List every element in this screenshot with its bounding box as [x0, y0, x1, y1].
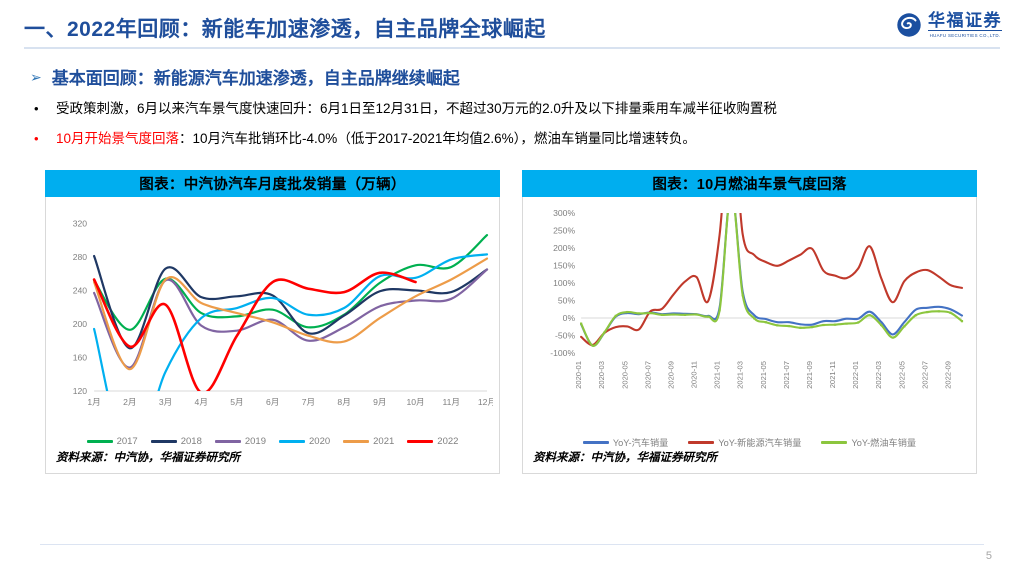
svg-text:2020-11: 2020-11 — [690, 361, 699, 388]
legend-label: YoY-新能源汽车销量 — [718, 435, 801, 449]
legend-item-2017: 2017 — [87, 436, 138, 447]
chart-legend-left: 201720182019202020212022 — [46, 436, 499, 447]
svg-text:320: 320 — [73, 219, 88, 229]
legend-item-2022: 2022 — [407, 436, 458, 447]
bullet-list: • 受政策刺激，6月以来汽车景气度快速回升：6月1日至12月31日，不超过30万… — [34, 100, 994, 160]
page-number: 5 — [986, 550, 992, 562]
svg-text:2021-03: 2021-03 — [736, 361, 745, 389]
svg-text:12月: 12月 — [478, 397, 493, 407]
svg-text:2021-01: 2021-01 — [713, 361, 722, 389]
svg-text:2月: 2月 — [123, 397, 136, 407]
legend-swatch-icon — [279, 440, 305, 443]
header-divider — [24, 47, 1000, 49]
svg-text:2021-05: 2021-05 — [759, 361, 768, 389]
svg-text:300%: 300% — [553, 208, 575, 218]
bullet-highlight: 10月开始景气度回落 — [56, 131, 179, 146]
legend-label: 2021 — [373, 436, 394, 447]
svg-text:9月: 9月 — [373, 397, 386, 407]
chart-body-left: 1201602002402803201月2月3月4月5月6月7月8月9月10月1… — [45, 197, 500, 474]
legend-swatch-icon — [583, 441, 609, 444]
legend-item-YoY-燃油车销量: YoY-燃油车销量 — [821, 435, 916, 449]
slide: 一、2022年回顾：新能车加速渗透，自主品牌全球崛起 华福证券 HUAFU SE… — [0, 0, 1024, 576]
svg-text:2020-07: 2020-07 — [643, 361, 652, 389]
svg-text:4月: 4月 — [195, 397, 208, 407]
svg-text:1月: 1月 — [87, 397, 100, 407]
svg-text:2020-09: 2020-09 — [666, 361, 675, 389]
svg-text:6月: 6月 — [266, 397, 279, 407]
svg-text:2022-07: 2022-07 — [920, 361, 929, 389]
svg-text:280: 280 — [73, 252, 88, 262]
legend-label: YoY-燃油车销量 — [851, 435, 916, 449]
bullet-text: 受政策刺激，6月以来汽车景气度快速回升：6月1日至12月31日，不超过30万元的… — [56, 100, 777, 117]
logo-name-cn: 华福证券 — [928, 12, 1002, 29]
svg-text:10月: 10月 — [406, 397, 424, 407]
legend-item-2020: 2020 — [279, 436, 330, 447]
svg-text:200: 200 — [73, 319, 88, 329]
legend-swatch-icon — [343, 440, 369, 443]
svg-text:2020-05: 2020-05 — [620, 361, 629, 389]
bullet-dot-icon: • — [34, 100, 42, 117]
company-logo: 华福证券 HUAFU SECURITIES CO.,LTD. — [896, 8, 1002, 42]
svg-text:2022-03: 2022-03 — [874, 361, 883, 389]
logo-text: 华福证券 HUAFU SECURITIES CO.,LTD. — [928, 12, 1002, 38]
svg-text:11月: 11月 — [443, 397, 461, 407]
list-item: • 受政策刺激，6月以来汽车景气度快速回升：6月1日至12月31日，不超过30万… — [34, 100, 994, 117]
svg-text:120: 120 — [73, 386, 88, 396]
plot-area-left: 1201602002402803201月2月3月4月5月6月7月8月9月10月1… — [52, 205, 493, 433]
bullet-rest: ：10月汽车批销环比-4.0%（低于2017-2021年均值2.6%），燃油车销… — [179, 131, 696, 146]
huafu-spiral-icon — [896, 12, 922, 38]
svg-text:50%: 50% — [558, 296, 576, 306]
svg-text:100%: 100% — [553, 278, 575, 288]
svg-text:0%: 0% — [563, 313, 576, 323]
svg-text:2022-01: 2022-01 — [851, 361, 860, 389]
svg-text:2022-05: 2022-05 — [897, 361, 906, 389]
logo-rule — [928, 30, 1002, 31]
svg-text:2021-11: 2021-11 — [828, 361, 837, 388]
legend-swatch-icon — [407, 440, 433, 443]
legend-label: 2018 — [181, 436, 202, 447]
svg-text:2021-07: 2021-07 — [782, 361, 791, 389]
legend-swatch-icon — [821, 441, 847, 444]
svg-text:160: 160 — [73, 353, 88, 363]
chart-panel-wholesale-sales: 图表：中汽协汽车月度批发销量（万辆） 1201602002402803201月2… — [45, 170, 500, 474]
legend-label: 2017 — [117, 436, 138, 447]
svg-text:2022-09: 2022-09 — [943, 361, 952, 389]
page-title: 一、2022年回顾：新能车加速渗透，自主品牌全球崛起 — [24, 13, 546, 43]
svg-text:5月: 5月 — [230, 397, 243, 407]
section-subheading: ➢ 基本面回顾：新能源汽车加速渗透，自主品牌继续崛起 — [30, 64, 460, 89]
subheading-text: 基本面回顾：新能源汽车加速渗透，自主品牌继续崛起 — [52, 64, 460, 89]
legend-swatch-icon — [151, 440, 177, 443]
legend-swatch-icon — [688, 441, 714, 444]
arrow-bullet-icon: ➢ — [30, 70, 42, 84]
line-chart-yoy-growth: -100%-50%0%50%100%150%200%250%300%2020-0… — [529, 205, 970, 433]
svg-text:2021-09: 2021-09 — [805, 361, 814, 389]
legend-swatch-icon — [87, 440, 113, 443]
legend-item-YoY-新能源汽车销量: YoY-新能源汽车销量 — [688, 435, 801, 449]
legend-label: 2019 — [245, 436, 266, 447]
svg-text:2020-01: 2020-01 — [574, 361, 583, 389]
svg-text:-100%: -100% — [550, 348, 575, 358]
bullet-dot-icon: • — [34, 130, 42, 147]
chart-panel-fuel-vehicle-yoy: 图表：10月燃油车景气度回落 -100%-50%0%50%100%150%200… — [522, 170, 977, 474]
legend-item-2018: 2018 — [151, 436, 202, 447]
chart-title-left: 图表：中汽协汽车月度批发销量（万辆） — [45, 170, 500, 197]
chart-body-right: -100%-50%0%50%100%150%200%250%300%2020-0… — [522, 197, 977, 474]
plot-area-right: -100%-50%0%50%100%150%200%250%300%2020-0… — [529, 205, 970, 433]
svg-text:240: 240 — [73, 286, 88, 296]
logo-name-en: HUAFU SECURITIES CO.,LTD. — [930, 34, 1001, 38]
svg-text:250%: 250% — [553, 226, 575, 236]
legend-swatch-icon — [215, 440, 241, 443]
footer-divider — [40, 544, 984, 545]
legend-label: 2020 — [309, 436, 330, 447]
svg-text:8月: 8月 — [337, 397, 350, 407]
svg-text:-50%: -50% — [555, 331, 575, 341]
legend-item-2019: 2019 — [215, 436, 266, 447]
line-chart-monthly-wholesale: 1201602002402803201月2月3月4月5月6月7月8月9月10月1… — [52, 205, 493, 433]
svg-text:150%: 150% — [553, 261, 575, 271]
list-item: • 10月开始景气度回落：10月汽车批销环比-4.0%（低于2017-2021年… — [34, 130, 994, 147]
chart-source-left: 资料来源：中汽协，华福证券研究所 — [56, 449, 240, 465]
bullet-text: 10月开始景气度回落：10月汽车批销环比-4.0%（低于2017-2021年均值… — [56, 130, 696, 147]
legend-item-YoY-汽车销量: YoY-汽车销量 — [583, 435, 669, 449]
chart-legend-right: YoY-汽车销量YoY-新能源汽车销量YoY-燃油车销量 — [523, 435, 976, 449]
legend-label: 2022 — [437, 436, 458, 447]
legend-label: YoY-汽车销量 — [613, 435, 669, 449]
svg-text:3月: 3月 — [159, 397, 172, 407]
legend-item-2021: 2021 — [343, 436, 394, 447]
svg-text:200%: 200% — [553, 243, 575, 253]
slide-header: 一、2022年回顾：新能车加速渗透，自主品牌全球崛起 华福证券 HUAFU SE… — [0, 0, 1024, 52]
chart-source-right: 资料来源：中汽协，华福证券研究所 — [533, 449, 717, 465]
svg-text:2020-03: 2020-03 — [597, 361, 606, 389]
chart-title-right: 图表：10月燃油车景气度回落 — [522, 170, 977, 197]
svg-text:7月: 7月 — [302, 397, 315, 407]
